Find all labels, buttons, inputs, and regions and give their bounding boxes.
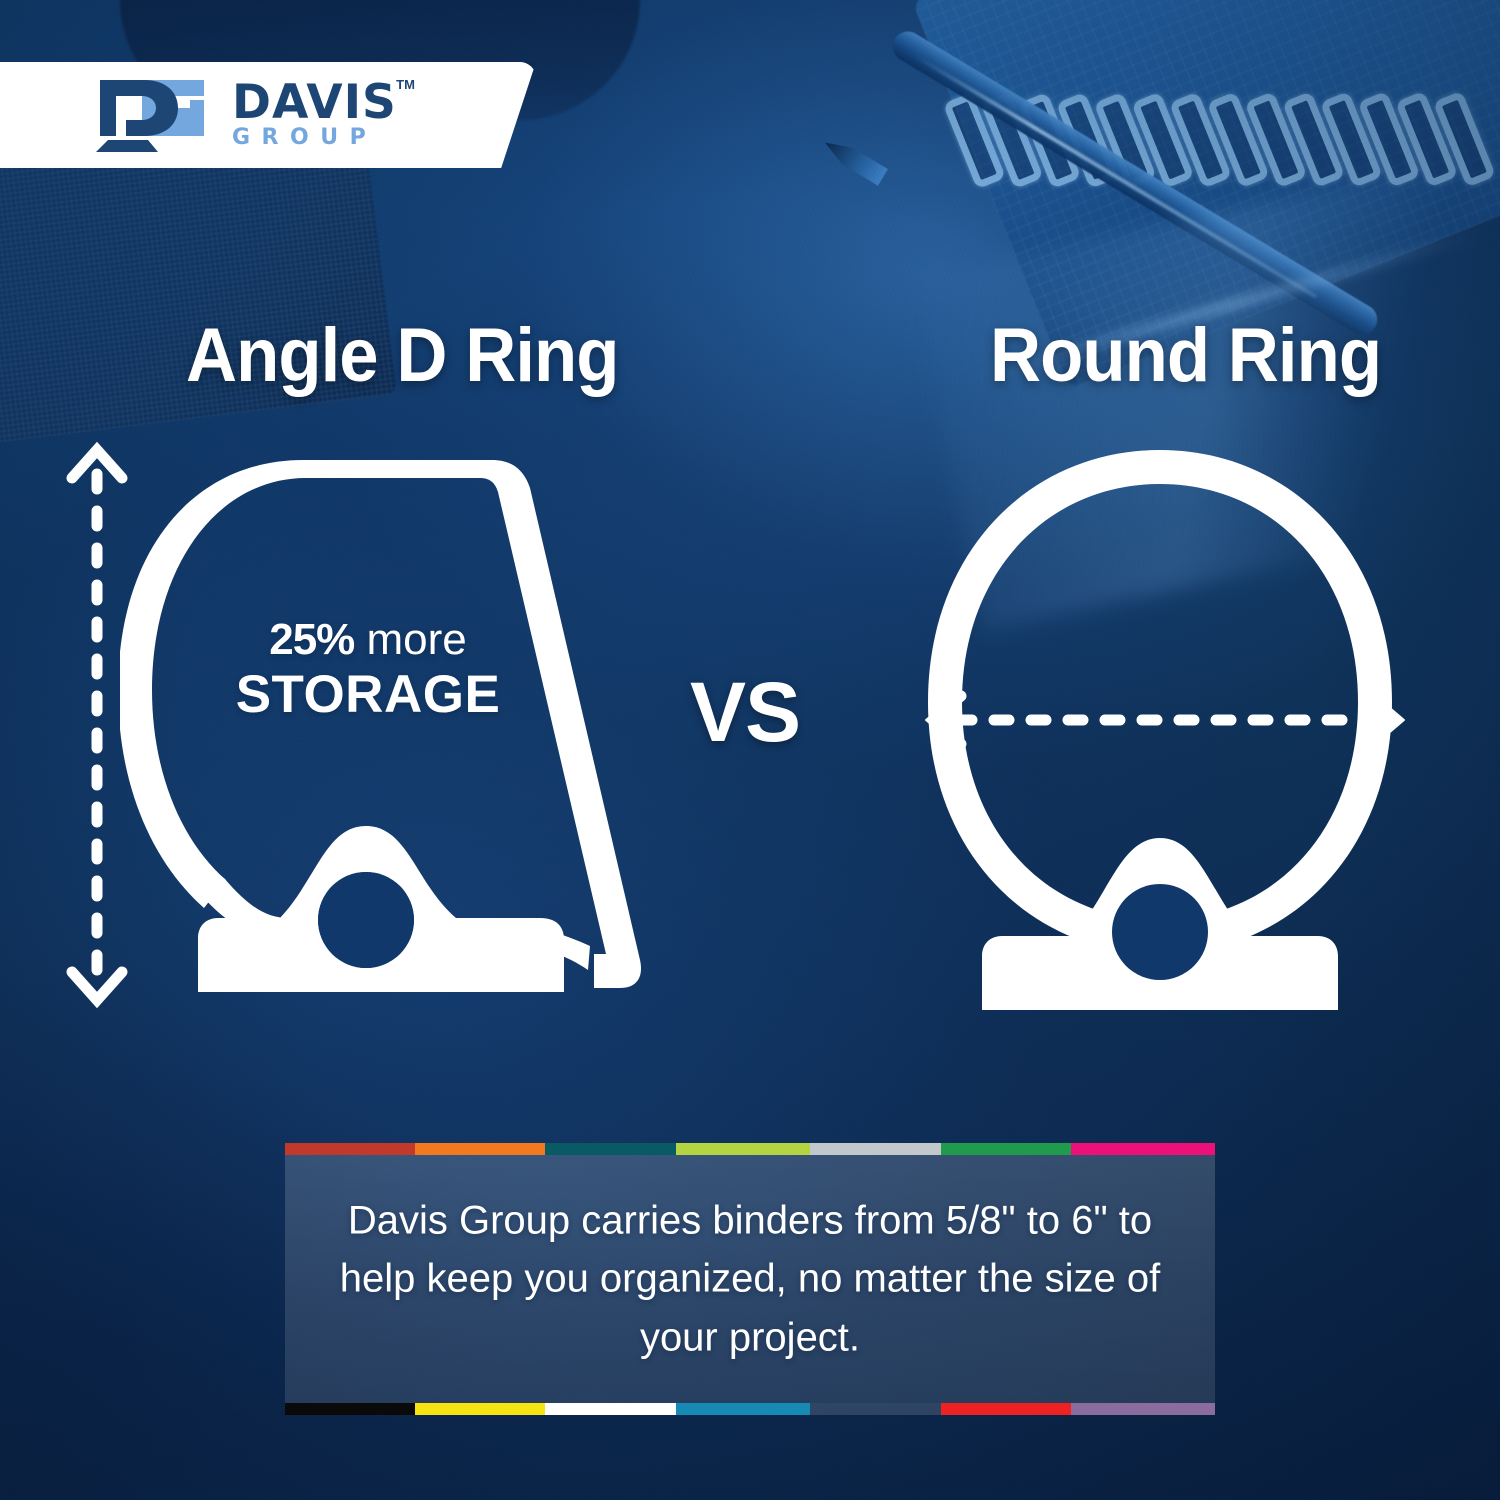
color-swatch-red [941,1403,1071,1415]
color-swatch-green [941,1143,1071,1155]
info-banner-text: Davis Group carries binders from 5/8" to… [285,1191,1215,1366]
brand-wordmark: DAVIS TM GROUP [232,81,397,149]
trademark-symbol: TM [396,77,415,92]
brand-logo-band[interactable]: DAVIS TM GROUP [0,62,536,168]
color-swatch-mauve [1071,1403,1215,1415]
color-swatch-yellow [415,1403,545,1415]
info-banner: Davis Group carries binders from 5/8" to… [285,1143,1215,1415]
angle-d-ring-icon [120,440,680,1020]
color-swatch-transparent [810,1403,940,1415]
color-swatch-orange [415,1143,545,1155]
infographic-canvas: DAVIS TM GROUP Angle D Ring Round Ring [0,0,1500,1500]
color-strip-top [285,1143,1215,1155]
brand-name: DAVIS [232,81,397,124]
color-swatch-cyan [676,1403,811,1415]
color-swatch-lime [676,1143,811,1155]
storage-callout-line-1: 25% more [233,618,503,662]
storage-qualifier: more [354,615,466,664]
color-swatch-silver [810,1143,940,1155]
storage-callout: 25% more STORAGE [233,618,503,721]
versus-label: VS [690,664,800,761]
horizontal-dashed-double-arrow-icon [925,688,1405,752]
color-swatch-black [285,1403,415,1415]
color-swatch-magenta [1071,1143,1215,1155]
right-product-heading: Round Ring [990,312,1381,399]
brand-logo-group: DAVIS TM GROUP [0,78,397,152]
left-product-heading: Angle D Ring [186,312,619,399]
color-swatch-teal [545,1143,675,1155]
color-swatch-white [545,1403,675,1415]
dg-monogram-icon [86,78,214,152]
color-strip-bottom [285,1403,1215,1415]
storage-subject: STORAGE [233,668,503,721]
color-swatch-red [285,1143,415,1155]
brand-subtitle: GROUP [232,126,397,149]
storage-percent: 25% [269,615,354,664]
